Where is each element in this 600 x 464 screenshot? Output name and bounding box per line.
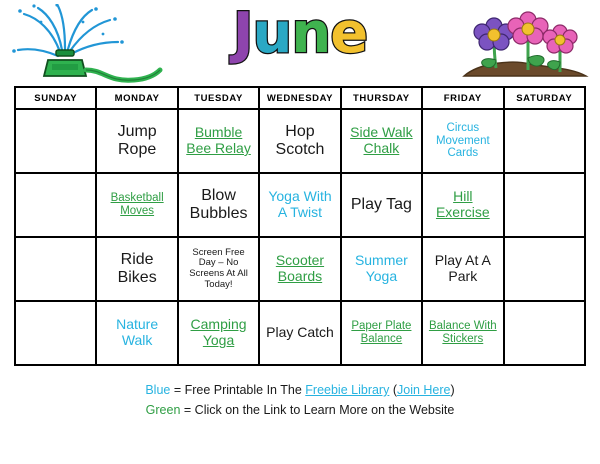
cell-r2-monday[interactable]: Basketball Moves bbox=[96, 173, 177, 237]
cell-r3-wednesday[interactable]: Scooter Boards bbox=[259, 237, 340, 301]
activity-link[interactable]: Bumble Bee Relay bbox=[181, 125, 256, 156]
col-header-sunday: SUNDAY bbox=[15, 87, 96, 109]
legend-blue-mid: = Free Printable In The bbox=[170, 383, 305, 397]
cell-r2-sunday bbox=[15, 173, 96, 237]
cell-r1-saturday bbox=[504, 109, 585, 173]
activity-calendar-table: SUNDAY MONDAY TUESDAY WEDNESDAY THURSDAY… bbox=[14, 86, 586, 366]
activity-note: Screen Free Day – No Screens At All Toda… bbox=[181, 248, 256, 291]
cell-r4-friday[interactable]: Balance With Stickers bbox=[422, 301, 503, 365]
activity-printable[interactable]: Nature Walk bbox=[99, 317, 174, 348]
legend-line-green: Green = Click on the Link to Learn More … bbox=[0, 400, 600, 420]
cell-r4-tuesday[interactable]: Camping Yoga bbox=[178, 301, 259, 365]
activity-text: Play Tag bbox=[344, 196, 419, 214]
freebie-library-link[interactable]: Freebie Library bbox=[305, 383, 389, 397]
activity-text: Hop Scotch bbox=[262, 123, 337, 159]
cell-r3-thursday[interactable]: Summer Yoga bbox=[341, 237, 422, 301]
activity-link[interactable]: Balance With Stickers bbox=[425, 320, 500, 346]
activity-text: Ride Bikes bbox=[99, 251, 174, 287]
activity-link[interactable]: Paper Plate Balance bbox=[344, 320, 419, 346]
flowers-icon bbox=[454, 2, 594, 84]
col-header-friday: FRIDAY bbox=[422, 87, 503, 109]
cell-r1-sunday bbox=[15, 109, 96, 173]
cell-r1-monday: Jump Rope bbox=[96, 109, 177, 173]
cell-r1-tuesday[interactable]: Bumble Bee Relay bbox=[178, 109, 259, 173]
activity-text: Jump Rope bbox=[99, 123, 174, 159]
activity-text: Play Catch bbox=[262, 325, 337, 341]
cell-r2-saturday bbox=[504, 173, 585, 237]
cell-r4-sunday bbox=[15, 301, 96, 365]
activity-link[interactable]: Scooter Boards bbox=[262, 253, 337, 284]
activity-link[interactable]: Camping Yoga bbox=[181, 317, 256, 348]
cell-r2-tuesday: Blow Bubbles bbox=[178, 173, 259, 237]
cell-r3-saturday bbox=[504, 237, 585, 301]
table-row: Ride Bikes Screen Free Day – No Screens … bbox=[15, 237, 585, 301]
title-letter-2: u bbox=[253, 6, 292, 62]
activity-printable[interactable]: Summer Yoga bbox=[344, 253, 419, 284]
col-header-thursday: THURSDAY bbox=[341, 87, 422, 109]
activity-printable[interactable]: Circus Movement Cards bbox=[425, 122, 500, 161]
title-letter-3: n bbox=[291, 6, 330, 62]
table-header-row: SUNDAY MONDAY TUESDAY WEDNESDAY THURSDAY… bbox=[15, 87, 585, 109]
table-row: Basketball Moves Blow Bubbles Yoga With … bbox=[15, 173, 585, 237]
title-letter-1: J bbox=[233, 6, 253, 62]
activity-printable[interactable]: Yoga With A Twist bbox=[262, 189, 337, 220]
title-letter-4: e bbox=[330, 6, 367, 62]
legend-green-word: Green bbox=[146, 403, 181, 417]
cell-r1-wednesday: Hop Scotch bbox=[259, 109, 340, 173]
cell-r3-friday: Play At A Park bbox=[422, 237, 503, 301]
join-here-link[interactable]: Join Here bbox=[397, 383, 451, 397]
col-header-saturday: SATURDAY bbox=[504, 87, 585, 109]
activity-text: Play At A Park bbox=[425, 253, 500, 284]
table-row: Nature Walk Camping Yoga Play Catch Pape… bbox=[15, 301, 585, 365]
table-row: Jump Rope Bumble Bee Relay Hop Scotch Si… bbox=[15, 109, 585, 173]
legend: Blue = Free Printable In The Freebie Lib… bbox=[0, 380, 600, 420]
col-header-monday: MONDAY bbox=[96, 87, 177, 109]
cell-r4-monday[interactable]: Nature Walk bbox=[96, 301, 177, 365]
legend-blue-word: Blue bbox=[145, 383, 170, 397]
legend-line-blue: Blue = Free Printable In The Freebie Lib… bbox=[0, 380, 600, 400]
cell-r4-saturday bbox=[504, 301, 585, 365]
cell-r3-sunday bbox=[15, 237, 96, 301]
cell-r4-thursday[interactable]: Paper Plate Balance bbox=[341, 301, 422, 365]
legend-paren-open: ( bbox=[389, 383, 397, 397]
cell-r3-monday: Ride Bikes bbox=[96, 237, 177, 301]
activity-text: Blow Bubbles bbox=[181, 187, 256, 223]
legend-paren-close: ) bbox=[451, 383, 455, 397]
cell-r1-friday[interactable]: Circus Movement Cards bbox=[422, 109, 503, 173]
activity-link[interactable]: Hill Exercise bbox=[425, 189, 500, 220]
cell-r1-thursday[interactable]: Side Walk Chalk bbox=[341, 109, 422, 173]
calendar-header: June bbox=[0, 0, 600, 86]
cell-r2-thursday: Play Tag bbox=[341, 173, 422, 237]
calendar-body: Jump Rope Bumble Bee Relay Hop Scotch Si… bbox=[15, 109, 585, 365]
activity-link[interactable]: Basketball Moves bbox=[99, 192, 174, 218]
cell-r2-wednesday[interactable]: Yoga With A Twist bbox=[259, 173, 340, 237]
col-header-wednesday: WEDNESDAY bbox=[259, 87, 340, 109]
cell-r4-wednesday: Play Catch bbox=[259, 301, 340, 365]
legend-green-rest: = Click on the Link to Learn More on the… bbox=[180, 403, 454, 417]
cell-r3-tuesday: Screen Free Day – No Screens At All Toda… bbox=[178, 237, 259, 301]
calendar-wrapper: SUNDAY MONDAY TUESDAY WEDNESDAY THURSDAY… bbox=[0, 86, 600, 366]
cell-r2-friday[interactable]: Hill Exercise bbox=[422, 173, 503, 237]
activity-link[interactable]: Side Walk Chalk bbox=[344, 125, 419, 156]
col-header-tuesday: TUESDAY bbox=[178, 87, 259, 109]
